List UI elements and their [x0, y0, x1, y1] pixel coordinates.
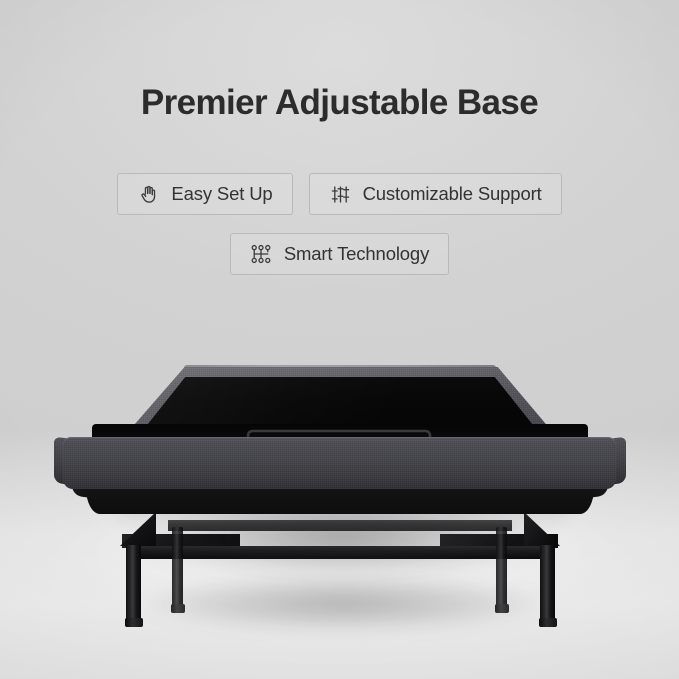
feature-badge-label: Smart Technology: [284, 245, 429, 264]
feature-badge-easy-set-up[interactable]: Easy Set Up: [117, 173, 292, 215]
feature-badge-row-2: Smart Technology: [0, 233, 679, 275]
network-nodes-icon: [250, 243, 273, 266]
feature-badge-label: Customizable Support: [363, 185, 542, 204]
deck-fabric-rail: [63, 437, 616, 489]
page-title: Premier Adjustable Base: [0, 83, 679, 123]
feature-badge-customizable-support[interactable]: Customizable Support: [309, 173, 562, 215]
hand-icon: [137, 183, 160, 206]
fabric-texture: [63, 437, 616, 489]
feature-badge-row-1: Easy Set Up Customizable Support: [0, 173, 679, 215]
feature-badge-label: Easy Set Up: [171, 185, 272, 204]
feature-badge-smart-technology[interactable]: Smart Technology: [230, 233, 449, 275]
sliders-icon: [329, 183, 352, 206]
